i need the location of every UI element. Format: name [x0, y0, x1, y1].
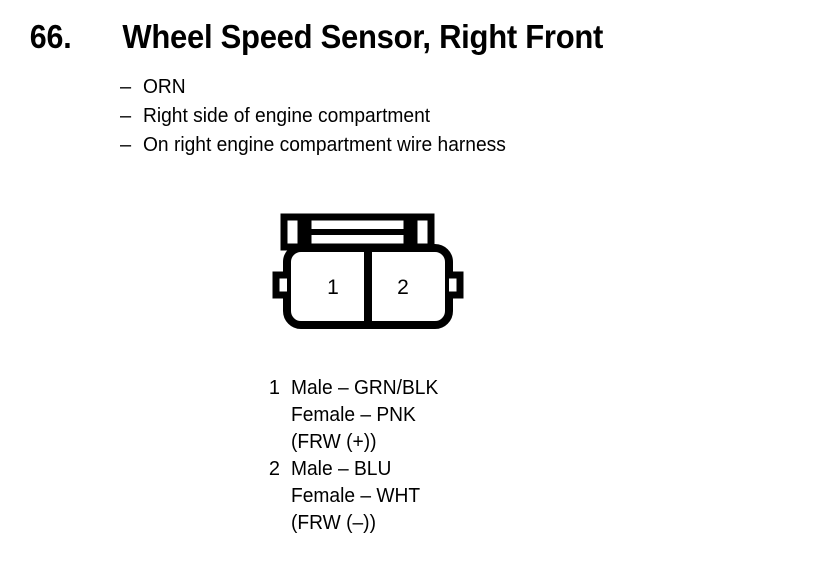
list-item: – ORN: [120, 73, 521, 102]
item-title: Wheel Speed Sensor, Right Front: [123, 20, 604, 53]
retention-tab-left-icon: [276, 275, 287, 295]
dash-icon: –: [120, 102, 143, 131]
list-item: – On right engine compartment wire harne…: [120, 131, 521, 160]
list-item-label: ORN: [143, 73, 186, 102]
page-title: 66. Wheel Speed Sensor, Right Front: [28, 20, 619, 53]
connector-diagram: 1 2: [262, 212, 474, 330]
pin-number: 2: [252, 456, 280, 483]
item-number: 66.: [30, 20, 72, 53]
latch-post-left-icon: [284, 217, 301, 247]
pin-number: 1: [252, 375, 280, 402]
description-list: – ORN – Right side of engine compartment…: [120, 73, 521, 160]
pin-legend-line: (FRW (+)): [291, 429, 438, 456]
list-item-label: On right engine compartment wire harness: [143, 131, 506, 160]
pin-legend-lines: Male – GRN/BLK Female – PNK (FRW (+)): [291, 375, 444, 456]
list-item: – Right side of engine compartment: [120, 102, 521, 131]
pin-legend-line: Female – PNK: [291, 402, 438, 429]
latch-post-right-icon: [414, 217, 431, 247]
pin-legend-entry: 1 Male – GRN/BLK Female – PNK (FRW (+)): [252, 375, 444, 456]
list-item-label: Right side of engine compartment: [143, 102, 430, 131]
dash-icon: –: [120, 131, 143, 160]
connector-svg: 1 2: [262, 212, 474, 330]
cavity-number-2: 2: [397, 276, 409, 299]
pin-legend-line: Female – WHT: [291, 483, 420, 510]
pin-legend: 1 Male – GRN/BLK Female – PNK (FRW (+)) …: [252, 375, 444, 537]
pin-legend-lines: Male – BLU Female – WHT (FRW (–)): [291, 456, 425, 537]
page-canvas: 66. Wheel Speed Sensor, Right Front – OR…: [0, 0, 832, 566]
pin-legend-line: Male – BLU: [291, 456, 420, 483]
pin-legend-entry: 2 Male – BLU Female – WHT (FRW (–)): [252, 456, 444, 537]
dash-icon: –: [120, 73, 143, 102]
cavity-number-1: 1: [327, 276, 339, 299]
pin-legend-line: (FRW (–)): [291, 510, 420, 537]
retention-tab-right-icon: [449, 275, 460, 295]
pin-legend-line: Male – GRN/BLK: [291, 375, 438, 402]
